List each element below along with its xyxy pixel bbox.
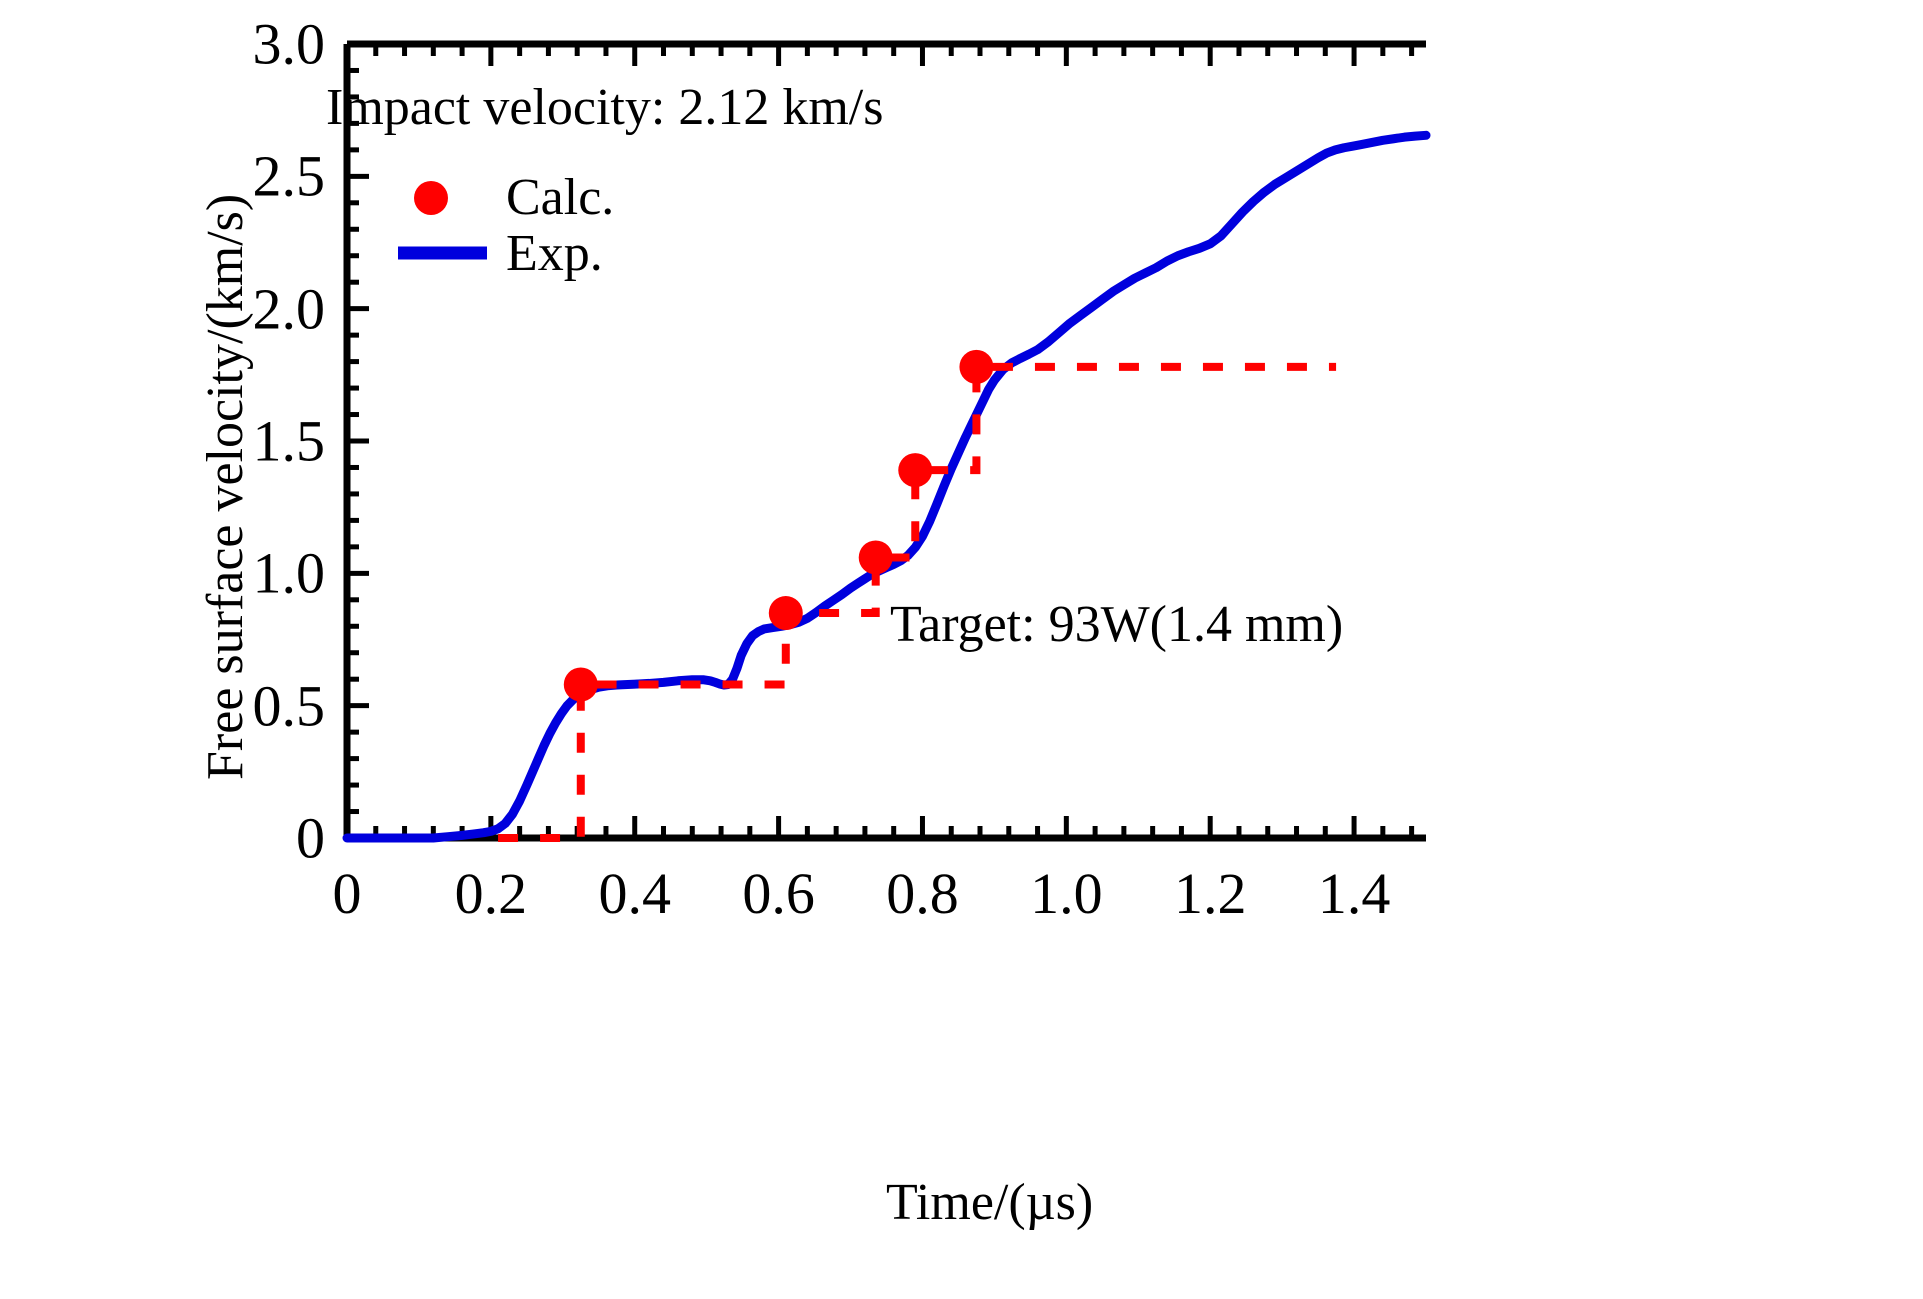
y-tick-label: 2.0: [253, 275, 326, 342]
legend: [398, 181, 487, 253]
figure-canvas: 00.20.40.60.81.01.21.4 00.51.01.52.02.53…: [0, 0, 1923, 1299]
y-axis-label: Free surface velocity/(km/s): [196, 194, 255, 780]
legend-label-calc: Calc.: [506, 168, 614, 227]
x-axis-label: Time/(µs): [886, 1173, 1093, 1232]
x-tick-label: 0.6: [742, 860, 815, 927]
x-tick-label: 1.2: [1174, 860, 1247, 927]
legend-label-exp: Exp.: [506, 224, 603, 283]
axes-frame: [347, 44, 1426, 838]
y-tick-label: 1.5: [253, 408, 326, 475]
x-tick-label: 0.2: [455, 860, 528, 927]
y-tick-label: 1.0: [253, 540, 326, 607]
axis-ticks: [347, 44, 1412, 838]
y-tick-label: 3.0: [253, 11, 326, 78]
x-tick-label: 1.0: [1030, 860, 1103, 927]
y-tick-label: 2.5: [253, 143, 326, 210]
target-annotation: Target: 93W(1.4 mm): [890, 595, 1343, 654]
x-tick-label: 1.4: [1318, 860, 1391, 927]
y-tick-label: 0.5: [253, 672, 326, 739]
x-tick-label: 0.8: [886, 860, 959, 927]
x-tick-label: 0: [333, 860, 362, 927]
y-tick-label: 0: [296, 805, 325, 872]
x-tick-label: 0.4: [598, 860, 671, 927]
impact-velocity-annotation: Impact velocity: 2.12 km/s: [326, 78, 883, 137]
